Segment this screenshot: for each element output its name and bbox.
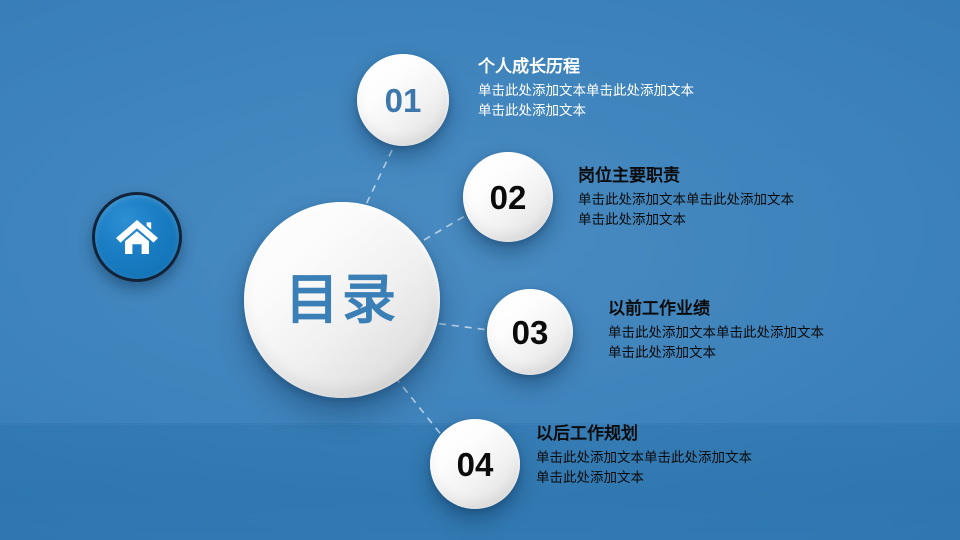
home-icon	[114, 216, 160, 258]
step-number-04: 04	[457, 448, 494, 481]
step-number-01: 01	[385, 84, 422, 117]
step-text-block-04: 以后工作规划 单击此处添加文本单击此处添加文本 单击此处添加文本	[536, 423, 752, 489]
step-title-04: 以后工作规划	[536, 423, 752, 445]
step-circle-02[interactable]: 02	[463, 152, 553, 242]
connector-line-02	[424, 213, 470, 240]
slide-canvas: 目录 01 02 03 04 个人成长历程 单击此处添加文本单击此处添加文本 单…	[0, 0, 960, 540]
step-title-03: 以前工作业绩	[608, 298, 824, 320]
step-text-block-01: 个人成长历程 单击此处添加文本单击此处添加文本 单击此处添加文本	[478, 56, 694, 122]
step-number-02: 02	[490, 181, 527, 214]
step-title-01: 个人成长历程	[478, 56, 694, 78]
step-circle-04[interactable]: 04	[430, 419, 520, 509]
step-circle-01[interactable]: 01	[357, 54, 449, 146]
step-body-03: 单击此处添加文本单击此处添加文本 单击此处添加文本	[608, 323, 824, 364]
home-badge-button[interactable]	[92, 192, 182, 282]
step-body-01: 单击此处添加文本单击此处添加文本 单击此处添加文本	[478, 81, 694, 122]
step-text-block-03: 以前工作业绩 单击此处添加文本单击此处添加文本 单击此处添加文本	[608, 298, 824, 364]
step-title-02: 岗位主要职责	[578, 165, 794, 187]
step-text-block-02: 岗位主要职责 单击此处添加文本单击此处添加文本 单击此处添加文本	[578, 165, 794, 231]
step-body-04: 单击此处添加文本单击此处添加文本 单击此处添加文本	[536, 448, 752, 489]
step-circle-03[interactable]: 03	[487, 289, 573, 375]
step-body-02: 单击此处添加文本单击此处添加文本 单击此处添加文本	[578, 190, 794, 231]
center-circle-label: 目录	[285, 273, 399, 327]
step-number-03: 03	[512, 316, 549, 349]
center-circle-toc[interactable]: 目录	[244, 202, 440, 398]
connector-line-04	[395, 377, 443, 437]
